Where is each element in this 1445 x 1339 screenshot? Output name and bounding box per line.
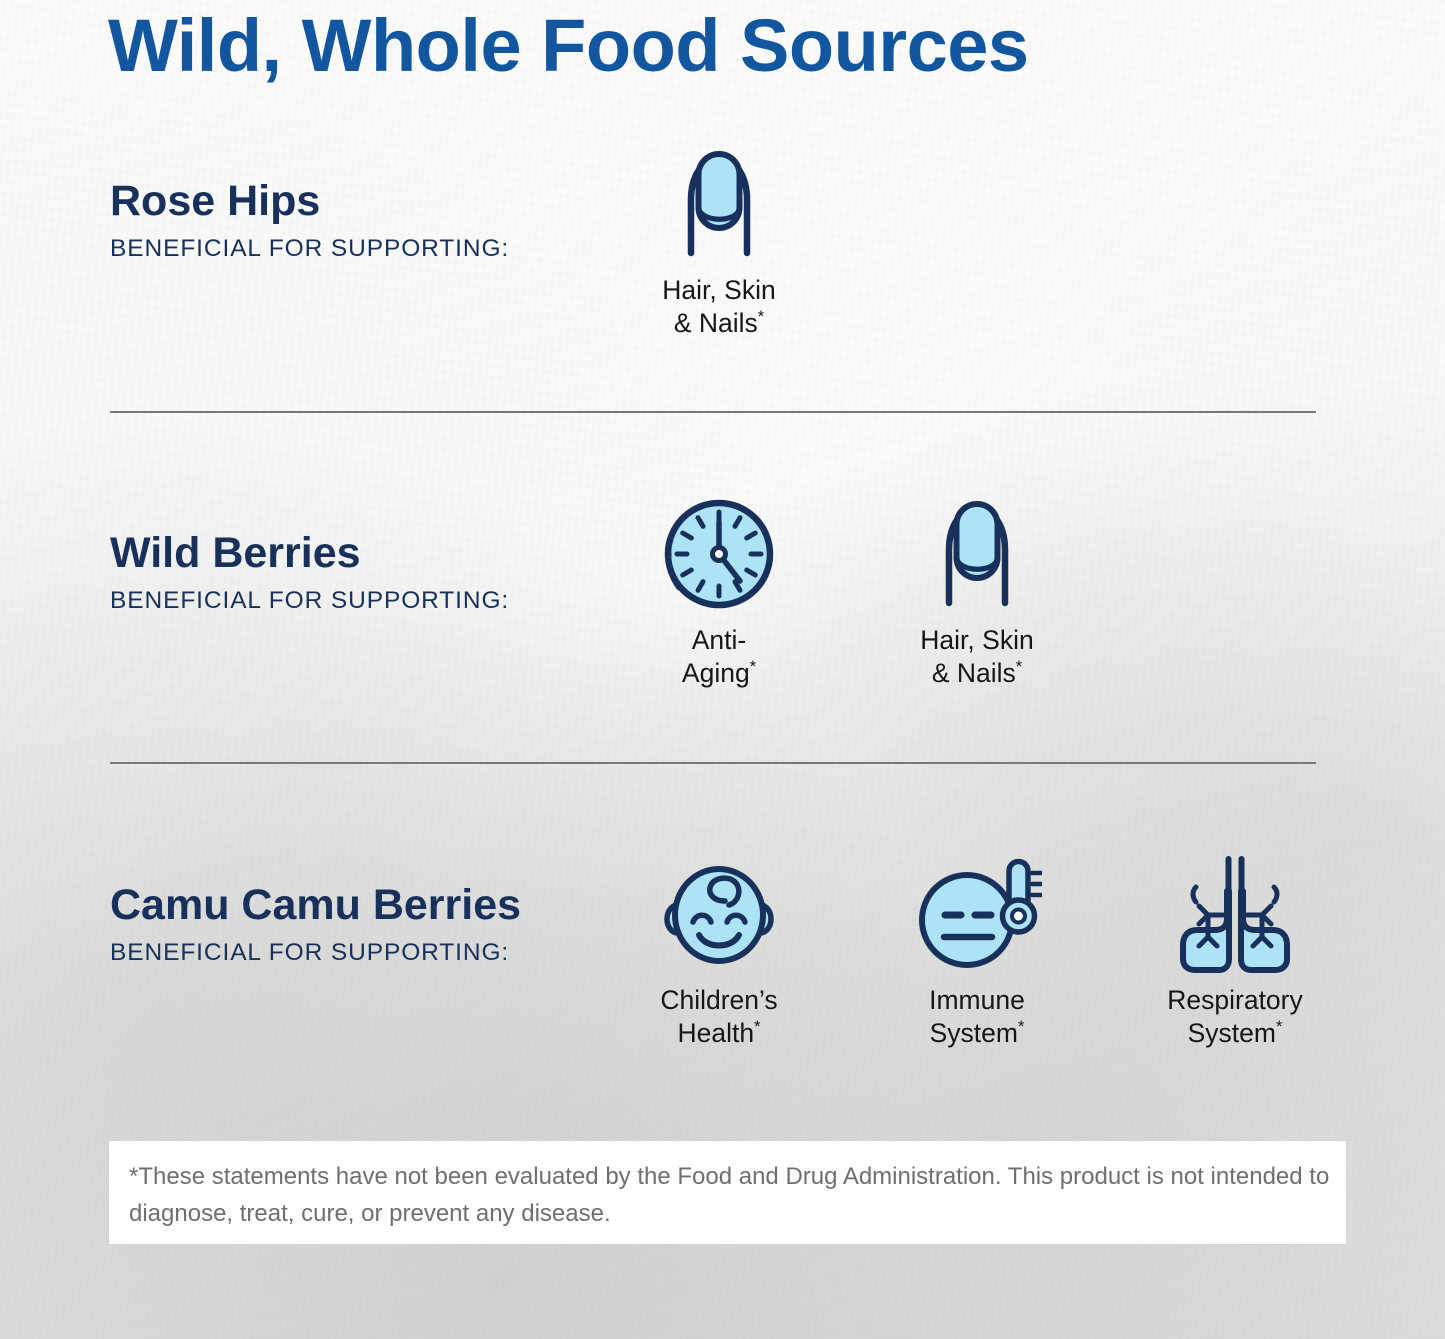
benefit-label: Hair, Skin& Nails*: [920, 624, 1033, 690]
page-title: Wild, Whole Food Sources: [108, 2, 1029, 90]
benefit-childrens-health: Children’sHealth*: [629, 850, 809, 1050]
disclaimer-text: *These statements have not been evaluate…: [129, 1158, 1330, 1232]
benefit-hair-skin-nails: Hair, Skin& Nails*: [629, 140, 809, 340]
benefit-respiratory-system: RespiratorySystem*: [1145, 850, 1325, 1050]
section-rose-hips-subtitle: BENEFICIAL FOR SUPPORTING:: [110, 235, 509, 263]
section-rose-hips-heading-group: Rose Hips BENEFICIAL FOR SUPPORTING:: [110, 176, 509, 263]
section-camu-camu-benefit-list: Children’sHealth*: [629, 850, 1325, 1050]
divider-1: [110, 411, 1316, 413]
section-camu-camu-title: Camu Camu Berries: [110, 880, 521, 930]
sick-face-thermometer-icon: [912, 850, 1042, 975]
section-camu-camu-subtitle: BENEFICIAL FOR SUPPORTING:: [110, 939, 521, 967]
lungs-icon: [1172, 850, 1298, 975]
benefit-label: Anti-Aging*: [682, 624, 756, 690]
benefit-label: RespiratorySystem*: [1167, 984, 1303, 1050]
clock-icon: [660, 490, 778, 615]
benefit-immune-system: ImmuneSystem*: [887, 850, 1067, 1050]
fingernail-icon: [919, 490, 1035, 615]
infographic-page: Wild, Whole Food Sources Rose Hips BENEF…: [0, 0, 1445, 1339]
benefit-hair-skin-nails: Hair, Skin& Nails*: [887, 490, 1067, 690]
benefit-label: Hair, Skin& Nails*: [662, 274, 775, 340]
section-rose-hips-benefit-list: Hair, Skin& Nails*: [629, 140, 809, 340]
benefit-anti-aging: Anti-Aging*: [629, 490, 809, 690]
disclaimer-box: *These statements have not been evaluate…: [108, 1140, 1347, 1245]
section-wild-berries-heading-group: Wild Berries BENEFICIAL FOR SUPPORTING:: [110, 528, 509, 615]
section-wild-berries-title: Wild Berries: [110, 528, 509, 578]
fingernail-icon: [661, 140, 777, 265]
benefit-label: ImmuneSystem*: [929, 984, 1025, 1050]
section-rose-hips-title: Rose Hips: [110, 176, 509, 226]
section-camu-camu-heading-group: Camu Camu Berries BENEFICIAL FOR SUPPORT…: [110, 880, 521, 967]
divider-2: [110, 762, 1316, 764]
section-wild-berries-subtitle: BENEFICIAL FOR SUPPORTING:: [110, 587, 509, 615]
section-wild-berries-benefit-list: Anti-Aging* Hair, Skin& Nails*: [629, 490, 1067, 690]
baby-face-icon: [655, 850, 783, 975]
benefit-label: Children’sHealth*: [660, 984, 777, 1050]
